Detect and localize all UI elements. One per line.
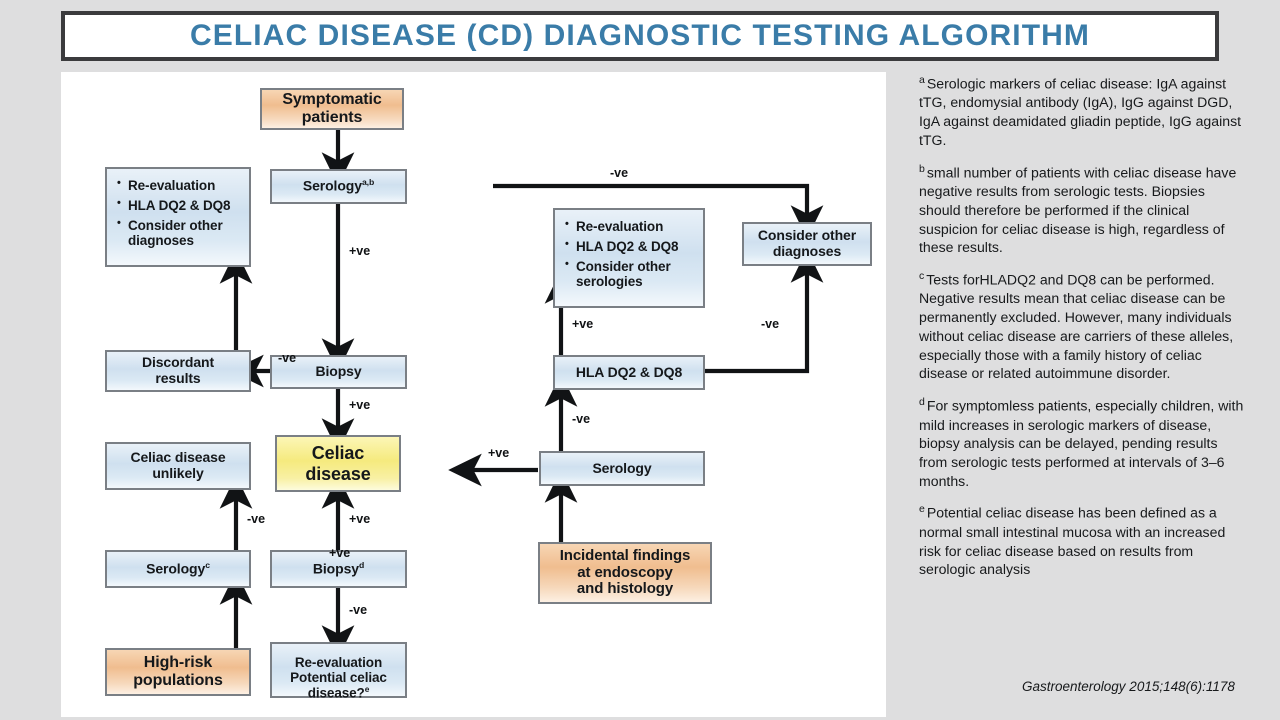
footnote-marker: a	[919, 74, 925, 86]
edge-label-serology-bottom-positive: +ve	[329, 546, 350, 560]
edge-label-serology-top-negative: -ve	[610, 166, 628, 180]
node-superscript: c	[205, 560, 210, 570]
edge-label-hla-positive: +ve	[572, 317, 593, 331]
node-label: Discordant results	[142, 355, 214, 386]
node-incidental-findings[interactable]: Incidental findings at endoscopy and his…	[538, 542, 712, 604]
footnote-text: small number of patients with celiac dis…	[919, 164, 1236, 255]
footnote-d: dFor symptomless patients, especially ch…	[919, 396, 1249, 490]
footnote-c: cTests forHLADQ2 and DQ8 can be performe…	[919, 270, 1249, 383]
edge-label-serology-right-negative: -ve	[572, 412, 590, 426]
node-symptomatic-patients[interactable]: Symptomatic patients	[260, 88, 404, 130]
title-bar: CELIAC DISEASE (CD) DIAGNOSTIC TESTING A…	[61, 11, 1219, 61]
edge-label-biopsy-bottom-negative: -ve	[349, 603, 367, 617]
node-label: Biopsy	[313, 560, 359, 576]
node-label: Serology	[146, 560, 205, 576]
footnote-text: Serologic markers of celiac disease: IgA…	[919, 76, 1241, 148]
node-label: High-risk populations	[133, 654, 223, 690]
footnote-text: For symptomless patients, especially chi…	[919, 398, 1243, 489]
bullet-item: Consider other diagnoses	[117, 218, 239, 248]
bullet-item: Re-evaluation	[565, 219, 693, 234]
node-celiac-disease-unlikely[interactable]: Celiac disease unlikely	[105, 442, 251, 490]
node-superscript: a,b	[362, 177, 374, 187]
node-superscript: d	[359, 560, 364, 570]
footnote-text: Potential celiac disease has been define…	[919, 505, 1225, 577]
page-title: CELIAC DISEASE (CD) DIAGNOSTIC TESTING A…	[190, 19, 1090, 53]
footnote-text: Tests forHLADQ2 and DQ8 can be performed…	[919, 272, 1233, 382]
node-discordant-results[interactable]: Discordant results	[105, 350, 251, 392]
footnote-marker: c	[919, 270, 924, 282]
footnote-e: ePotential celiac disease has been defin…	[919, 503, 1249, 579]
node-label: HLA DQ2 & DQ8	[576, 365, 682, 381]
node-label: Symptomatic patients	[282, 91, 381, 127]
node-label: Celiac disease	[305, 443, 370, 483]
bullet-item: Consider other serologies	[565, 259, 693, 289]
node-reevaluation-left[interactable]: Re-evaluation HLA DQ2 & DQ8 Consider oth…	[105, 167, 251, 267]
footnote-marker: e	[919, 503, 925, 515]
edge-label-serology-top-positive: +ve	[349, 244, 370, 258]
node-label: Serology	[303, 178, 362, 194]
footnote-b: bsmall number of patients with celiac di…	[919, 163, 1249, 257]
edge-label-biopsy-mid-negative: -ve	[278, 351, 296, 365]
footnote-a: aSerologic markers of celiac disease: Ig…	[919, 74, 1249, 150]
edge-label-biopsy-mid-positive: +ve	[349, 398, 370, 412]
citation: Gastroenterology 2015;148(6):1178	[1022, 679, 1235, 694]
edge-label-hla-negative: -ve	[761, 317, 779, 331]
node-label: Re-evaluation Potential celiac disease?	[290, 655, 387, 701]
footnote-marker: b	[919, 163, 925, 175]
node-label: Consider other diagnoses	[758, 228, 856, 259]
node-serology-top[interactable]: Serologya,b	[270, 169, 407, 204]
node-reevaluation-potential[interactable]: Re-evaluation Potential celiac disease?e	[270, 642, 407, 698]
node-celiac-disease[interactable]: Celiac disease	[275, 435, 401, 492]
bullet-item: Re-evaluation	[117, 178, 239, 193]
node-reevaluation-mid[interactable]: Re-evaluation HLA DQ2 & DQ8 Consider oth…	[553, 208, 705, 308]
node-serology-right[interactable]: Serology	[539, 451, 705, 486]
edge-label-serology-bottom-negative: -ve	[247, 512, 265, 526]
edge-label-biopsy-bottom-positive: +ve	[349, 512, 370, 526]
node-label: Celiac disease unlikely	[130, 450, 225, 481]
node-consider-other-diagnoses[interactable]: Consider other diagnoses	[742, 222, 872, 266]
bullet-item: HLA DQ2 & DQ8	[565, 239, 693, 254]
diagram-panel: Symptomatic patients Serologya,b Re-eval…	[61, 72, 886, 717]
edge-label-serology-right-positive: +ve	[488, 446, 509, 460]
node-label: Biopsy	[315, 364, 361, 380]
footnotes-column: aSerologic markers of celiac disease: Ig…	[919, 74, 1249, 592]
footnote-marker: d	[919, 396, 925, 408]
node-serology-bottom[interactable]: Serologyc	[105, 550, 251, 588]
node-label: Serology	[592, 461, 651, 477]
node-high-risk-populations[interactable]: High-risk populations	[105, 648, 251, 696]
node-superscript: e	[365, 684, 370, 694]
node-hla-dq2-dq8[interactable]: HLA DQ2 & DQ8	[553, 355, 705, 390]
node-label: Incidental findings at endoscopy and his…	[560, 548, 691, 598]
bullet-item: HLA DQ2 & DQ8	[117, 198, 239, 213]
